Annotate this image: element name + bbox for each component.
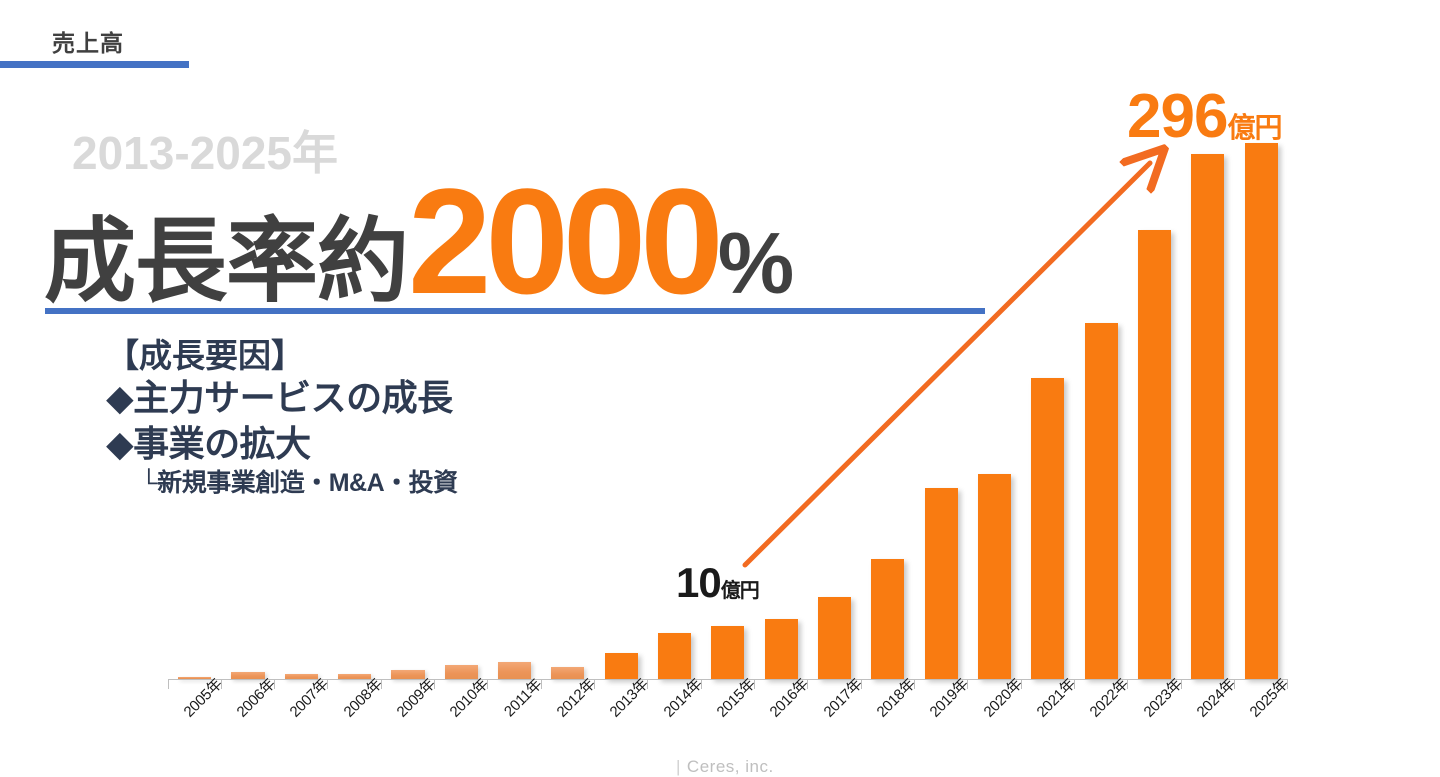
- chart-x-tick-cell: 2023年: [1128, 682, 1181, 772]
- growth-factor-subitem: └新規事業創造・M&A・投資: [140, 468, 576, 498]
- chart-x-tick-label: 2021年: [1031, 673, 1079, 721]
- chart-x-tick-label: 2011年: [498, 674, 545, 721]
- chart-bar-cell: [1235, 91, 1288, 679]
- headline-block: 2013-2025年 成長率約2000%: [44, 128, 1004, 313]
- chart-bar-cell: [1181, 91, 1234, 679]
- chart-x-tick-cell: 2019年: [915, 682, 968, 772]
- chart-x-tick-cell: 2006年: [221, 682, 274, 772]
- chart-bar: [925, 488, 958, 679]
- chart-x-tick-label: 2014年: [658, 673, 706, 721]
- chart-bar-cell: [1128, 91, 1181, 679]
- chart-x-tick-label: 2007年: [285, 673, 333, 721]
- headline-number: 2000: [408, 157, 718, 325]
- callout-end-value: 296億円: [1127, 86, 1281, 148]
- growth-factors-heading: 【成長要因】: [106, 338, 576, 374]
- chart-bar: [1031, 378, 1064, 679]
- chart-x-tick-label: 2009年: [391, 673, 439, 721]
- chart-bar: [1085, 323, 1118, 679]
- chart-x-tick-label: 2017年: [818, 673, 866, 721]
- chart-bar: [498, 662, 531, 679]
- chart-x-tick-label: 2015年: [711, 673, 759, 721]
- chart-x-tick-cell: 2008年: [328, 682, 381, 772]
- chart-x-tick-cell: 2017年: [808, 682, 861, 772]
- chart-x-tick-cell: 2007年: [275, 682, 328, 772]
- chart-x-tick-cell: 2018年: [861, 682, 914, 772]
- chart-x-tick-label: 2025年: [1245, 673, 1293, 721]
- chart-x-tick-label: 2024年: [1191, 673, 1239, 721]
- chart-bar-cell: [1075, 91, 1128, 679]
- chart-bar: [765, 619, 798, 679]
- chart-x-tick-cell: 2020年: [968, 682, 1021, 772]
- page-title: 売上高: [52, 24, 124, 58]
- chart-bar-cell: [1021, 91, 1074, 679]
- growth-factors-block: 【成長要因】 ◆主力サービスの成長 ◆事業の拡大 └新規事業創造・M&A・投資: [106, 338, 576, 498]
- chart-x-tick-cell: 2009年: [381, 682, 434, 772]
- header-underline: [0, 61, 189, 68]
- chart-bar: [711, 626, 744, 679]
- chart-x-tick-label: 2008年: [338, 673, 386, 721]
- slide-root: 売上高 2005年2006年2007年2008年2009年2010年2011年2…: [0, 0, 1440, 777]
- growth-factor-item-1: ◆事業の拡大: [106, 422, 576, 466]
- chart-x-tick-label: 2005年: [178, 673, 226, 721]
- footer-separator: |: [676, 757, 681, 776]
- chart-x-tick-label: 2020年: [978, 673, 1026, 721]
- chart-bar: [605, 653, 638, 679]
- callout-end-number: 296: [1127, 82, 1227, 151]
- headline-main: 成長率約2000%: [44, 166, 794, 316]
- chart-x-tick-cell: 2012年: [541, 682, 594, 772]
- chart-x-tick-cell: 2005年: [168, 682, 221, 772]
- headline-percent-sign: %: [718, 216, 794, 312]
- chart-bar: [1245, 143, 1278, 679]
- footer-company: Ceres, inc.: [687, 757, 774, 776]
- chart-bar: [978, 474, 1011, 679]
- chart-x-tick-label: 2023年: [1138, 673, 1186, 721]
- chart-x-tick-label: 2006年: [231, 673, 279, 721]
- chart-x-tick-label: 2016年: [765, 673, 813, 721]
- chart-x-tick-cell: 2025年: [1235, 682, 1288, 772]
- headline-underline: [45, 308, 985, 314]
- chart-x-tick-label: 2018年: [871, 673, 919, 721]
- chart-x-tick-cell: 2021年: [1021, 682, 1074, 772]
- chart-x-tick-label: 2010年: [445, 673, 493, 721]
- chart-x-tick-label: 2022年: [1085, 673, 1133, 721]
- chart-x-tick-cell: 2011年: [488, 682, 541, 772]
- chart-x-tick-cell: 2010年: [435, 682, 488, 772]
- callout-start-number: 10: [676, 559, 721, 606]
- headline-jp-prefix: 成長率約: [44, 211, 408, 313]
- growth-factor-item-0: ◆主力サービスの成長: [106, 376, 576, 420]
- callout-end-unit: 億円: [1227, 112, 1281, 143]
- chart-bar: [1138, 230, 1171, 679]
- chart-x-tick-label: 2012年: [551, 673, 599, 721]
- callout-start-value: 10億円: [676, 562, 759, 604]
- chart-bar: [871, 559, 904, 679]
- chart-bar: [1191, 154, 1224, 679]
- chart-x-tick-label: 2013年: [605, 673, 653, 721]
- chart-bar: [818, 597, 851, 679]
- footer-credit: |Ceres, inc.: [676, 757, 774, 777]
- chart-bar: [658, 633, 691, 679]
- callout-start-unit: 億円: [721, 580, 759, 602]
- chart-x-tick-cell: 2022年: [1075, 682, 1128, 772]
- chart-x-tick-label: 2019年: [925, 673, 973, 721]
- chart-x-tick-cell: 2024年: [1181, 682, 1234, 772]
- chart-x-tick-cell: 2013年: [595, 682, 648, 772]
